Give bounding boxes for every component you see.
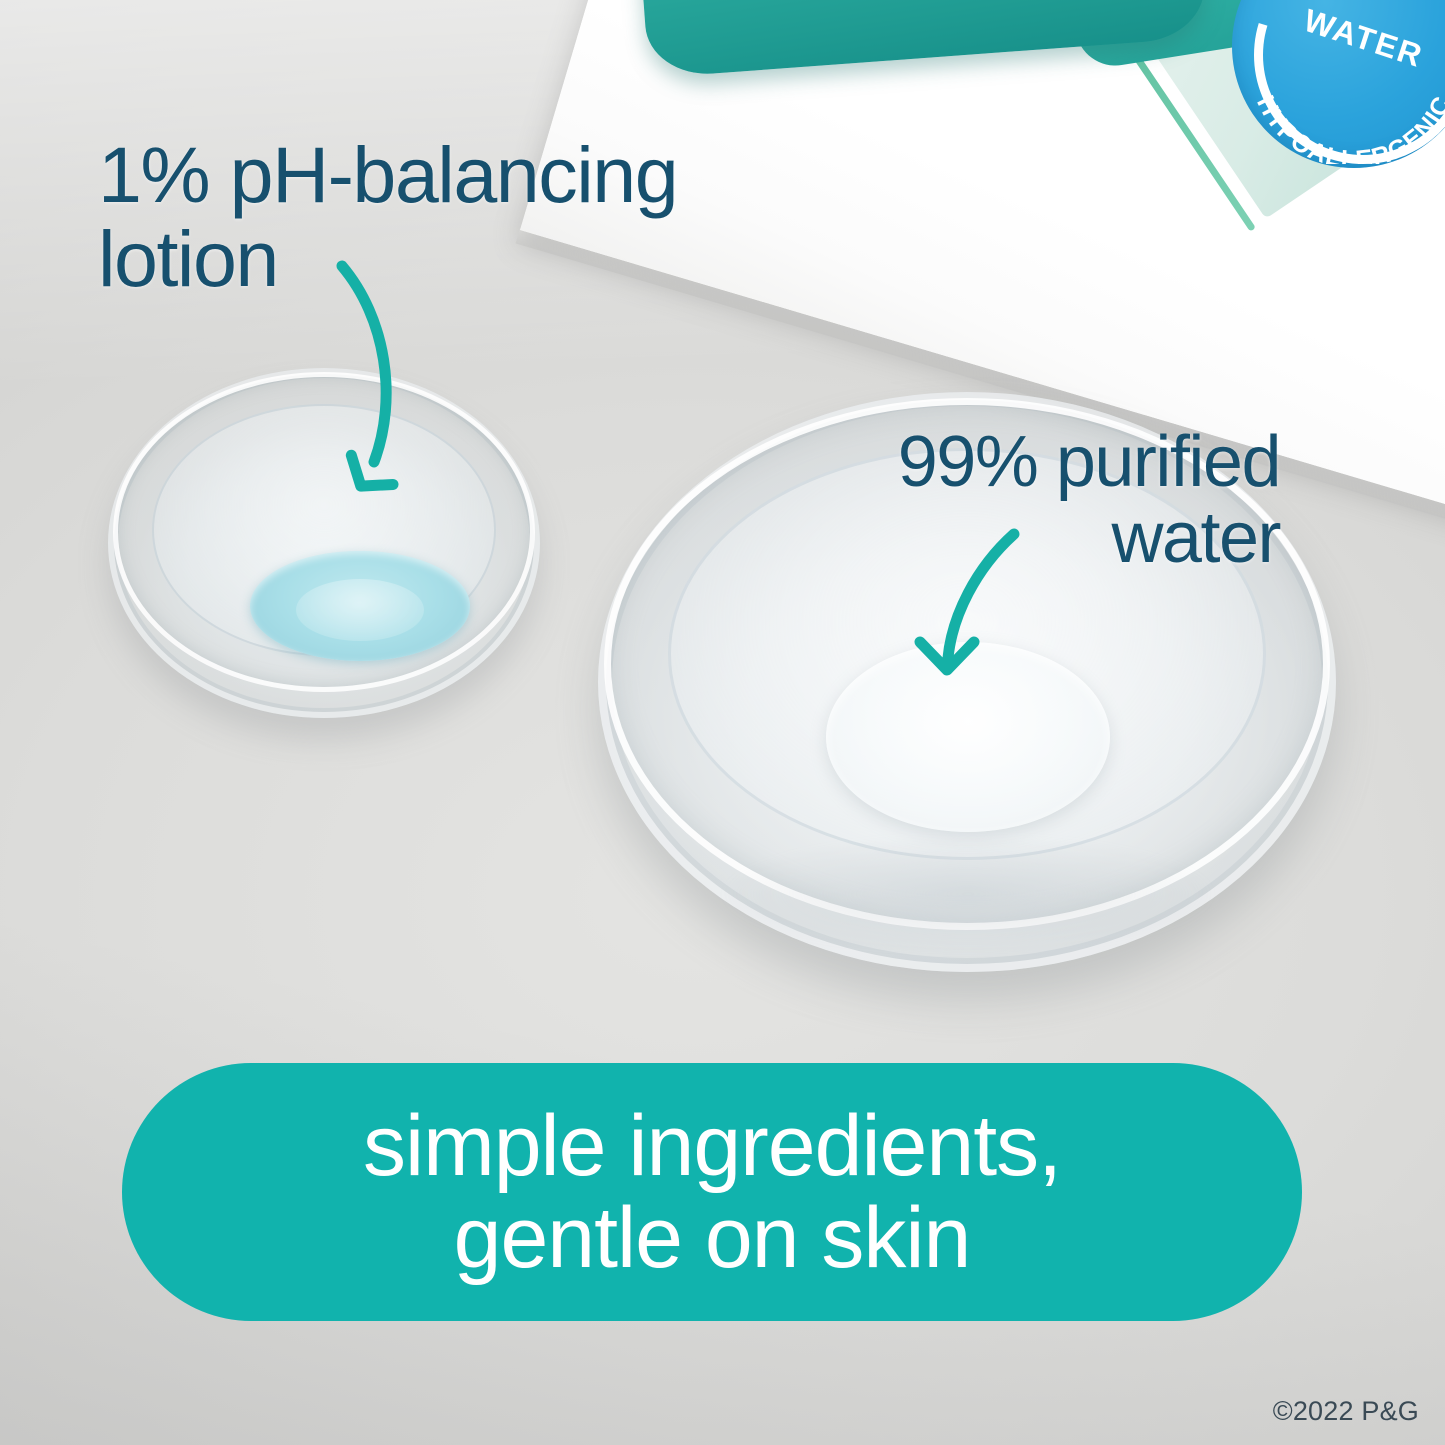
tagline-text: simple ingredients, gentle on skin [323,1100,1101,1284]
callout-water-line1: 99% purified [898,422,1280,502]
callout-lotion-line1: 1% pH-balancing [98,130,677,219]
copyright-notice: ©2022 P&G [1273,1396,1419,1427]
svg-text:HYPOALLERGENIC: HYPOALLERGENIC [1251,91,1445,164]
tagline-line1: simple ingredients, [363,1100,1061,1192]
callout-water-line2: water [1111,498,1280,578]
badge-hypoallergenic-arc: HYPOALLERGENIC [1244,74,1445,164]
tagline-line2: gentle on skin [363,1192,1061,1284]
curved-arrow-down-icon [890,524,1040,694]
lotion-liquid-pool [250,551,470,661]
large-bowl-base-shadow [718,834,1218,954]
hypoallergenic-badge: 99% WATER HYPOALLERGENIC [1232,0,1445,168]
badge-percent: 99% [1328,0,1445,2]
badge-hypoallergenic-label: HYPOALLERGENIC [1251,91,1445,164]
badge-percent-value: 99 [1328,0,1409,6]
product-marketing-image: 99% WATER HYPOALLERGENIC 1% pH-balancing… [0,0,1445,1445]
callout-lotion-line2: lotion [98,214,278,303]
tagline-banner: simple ingredients, gentle on skin [122,1063,1302,1321]
curved-arrow-down-left-icon [300,248,460,518]
